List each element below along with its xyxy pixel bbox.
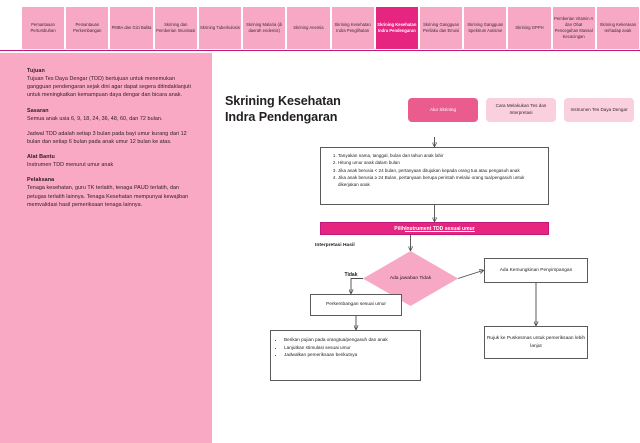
nav-tab-label: Skrining Tuberkulosis: [200, 25, 240, 31]
action-item: Jadwalkan pemeriksaan berikutnya: [284, 351, 416, 358]
nav-tab-label: Pemberian Vitamin A dan Obat Pencegahan …: [554, 16, 594, 40]
steps-list: Tanyakan nama, tanggal, bulan dan tahun …: [329, 153, 542, 189]
sidebar-section-alat-bantu: Alat Bantu Instrumen TDD menurut umur an…: [27, 154, 195, 169]
sidebar-content: Tujuan Tujuan Tes Daya Dengar (TDD) bert…: [27, 68, 195, 217]
nav-tab-11[interactable]: Skrining GPPH: [507, 6, 551, 50]
nav-tab-3[interactable]: Skrining dan Pemberian Imunisasi: [154, 6, 198, 50]
nav-tab-label: Pemantauan Pertumbuhan: [23, 22, 63, 34]
sidebar-section-pelaksana: Pelaksana Tenaga kesehatan, guru TK terl…: [27, 177, 195, 209]
section-heading: Alat Bantu: [27, 154, 195, 160]
step-item: Jika anak berusia < 24 bulan, pertanyaan…: [338, 168, 542, 175]
flow-node-actions: Berikan pujian pada orangtua/pengasuh da…: [270, 330, 421, 381]
section-body-extra: Jadwal TDD adalah setiap 3 bulan pada ba…: [27, 130, 195, 146]
pilih-prefix: Pilih: [394, 226, 405, 232]
flow-node-perkembangan-sesuai-umur: Perkembangan sesuai umur: [310, 294, 402, 316]
nav-tab-0[interactable]: Pemantauan Pertumbuhan: [21, 6, 65, 50]
nav-tab-label: Skrining Kesehatan Indra Penglihatan: [333, 22, 373, 34]
main-content: Skrining Kesehatan Indra Pendengaran Alu…: [212, 53, 640, 443]
section-heading: Sasaran: [27, 108, 195, 114]
action-item: Lanjutkan stimulasi sesuai umur: [284, 344, 416, 351]
nav-tab-label: Skrining Gangguan Perilaku dan Emosi: [421, 22, 461, 34]
flow-node-rujuk-puskesmas: Rujuk ke Puskesmas untuk pemeriksaan leb…: [484, 326, 588, 359]
actions-list: Berikan pujian pada orangtua/pengasuh da…: [275, 336, 416, 358]
nav-tab-label: Skrining GPPH: [515, 25, 543, 31]
nav-divider: [0, 50, 640, 51]
nav-tab-9[interactable]: Skrining Gangguan Perilaku dan Emosi: [419, 6, 463, 50]
nav-tab-13[interactable]: Skrining Kekerasan terhadap anak: [596, 6, 640, 50]
nav-tab-12[interactable]: Pemberian Vitamin A dan Obat Pencegahan …: [552, 6, 596, 50]
section-heading: Tujuan: [27, 68, 195, 74]
screen: Pemantauan PertumbuhanPemantauan Perkemb…: [0, 0, 640, 443]
nav-tab-label: PMBA dan Gizi Balita: [112, 25, 152, 31]
nav-tab-10[interactable]: Skrining Gangguan Spektrum Autisme: [463, 6, 507, 50]
flow-connectors: [212, 53, 640, 443]
nav-tab-8[interactable]: Skrining Kesehatan Indra Pendengaran: [375, 6, 419, 50]
step-item: Jika anak berusia ≥ 24 Bulan, pertanyaan…: [338, 175, 542, 189]
nav-tab-label: Skrining Kekerasan terhadap anak: [598, 22, 638, 34]
nav-tab-label: Skrining Kesehatan Indra Pendengaran: [377, 22, 417, 34]
step-item: Tanyakan nama, tanggal, bulan dan tahun …: [338, 153, 542, 160]
pilih-underlined: Instrument TDD sesuai umur: [405, 226, 475, 232]
nav-tab-4[interactable]: Skrining Tuberkulosis: [198, 6, 242, 50]
branch-label-tidak: Tidak: [340, 272, 362, 279]
flow-node-kemungkinan-penyimpangan: Ada Kemungkinan Penyimpangan: [484, 258, 588, 283]
section-body: Tenaga kesehatan, guru TK terlatih, tena…: [27, 184, 195, 209]
label-interpretasi-hasil: Interpretasi Hasil: [315, 243, 355, 248]
flow-bar-pilih-instrumen[interactable]: Pilih Instrument TDD sesuai umur: [320, 222, 549, 235]
nav-tab-label: Skrining Anemia: [293, 25, 323, 31]
sidebar-section-tujuan: Tujuan Tujuan Tes Daya Dengar (TDD) bert…: [27, 68, 195, 100]
nav-tab-label: Pemantauan Perkembangan: [67, 22, 107, 34]
step-item: Hitung umur anak dalam bulan: [338, 160, 542, 167]
top-navigation[interactable]: Pemantauan PertumbuhanPemantauan Perkemb…: [21, 6, 640, 50]
section-heading: Pelaksana: [27, 177, 195, 183]
section-body: Semua anak usia 6, 9, 18, 24, 36, 48, 60…: [27, 115, 195, 123]
section-body: Tujuan Tes Daya Dengar (TDD) bertujuan u…: [27, 75, 195, 100]
info-sidebar: Tujuan Tujuan Tes Daya Dengar (TDD) bert…: [0, 53, 212, 443]
action-item: Berikan pujian pada orangtua/pengasuh da…: [284, 336, 416, 343]
flow-node-steps: Tanyakan nama, tanggal, bulan dan tahun …: [320, 147, 549, 205]
nav-tab-2[interactable]: PMBA dan Gizi Balita: [109, 6, 153, 50]
flowchart: Tanyakan nama, tanggal, bulan dan tahun …: [212, 53, 640, 443]
nav-tab-label: Skrining Malaria (di daerah endemis): [244, 22, 284, 34]
nav-tab-label: Skrining dan Pemberian Imunisasi: [156, 22, 196, 34]
nav-tab-7[interactable]: Skrining Kesehatan Indra Penglihatan: [331, 6, 375, 50]
nav-tab-6[interactable]: Skrining Anemia: [286, 6, 330, 50]
nav-tab-5[interactable]: Skrining Malaria (di daerah endemis): [242, 6, 286, 50]
nav-tab-1[interactable]: Pemantauan Perkembangan: [65, 6, 109, 50]
sidebar-section-sasaran: Sasaran Semua anak usia 6, 9, 18, 24, 36…: [27, 108, 195, 147]
nav-tab-label: Skrining Gangguan Spektrum Autisme: [465, 22, 505, 34]
section-body: Instrumen TDD menurut umur anak: [27, 161, 195, 169]
